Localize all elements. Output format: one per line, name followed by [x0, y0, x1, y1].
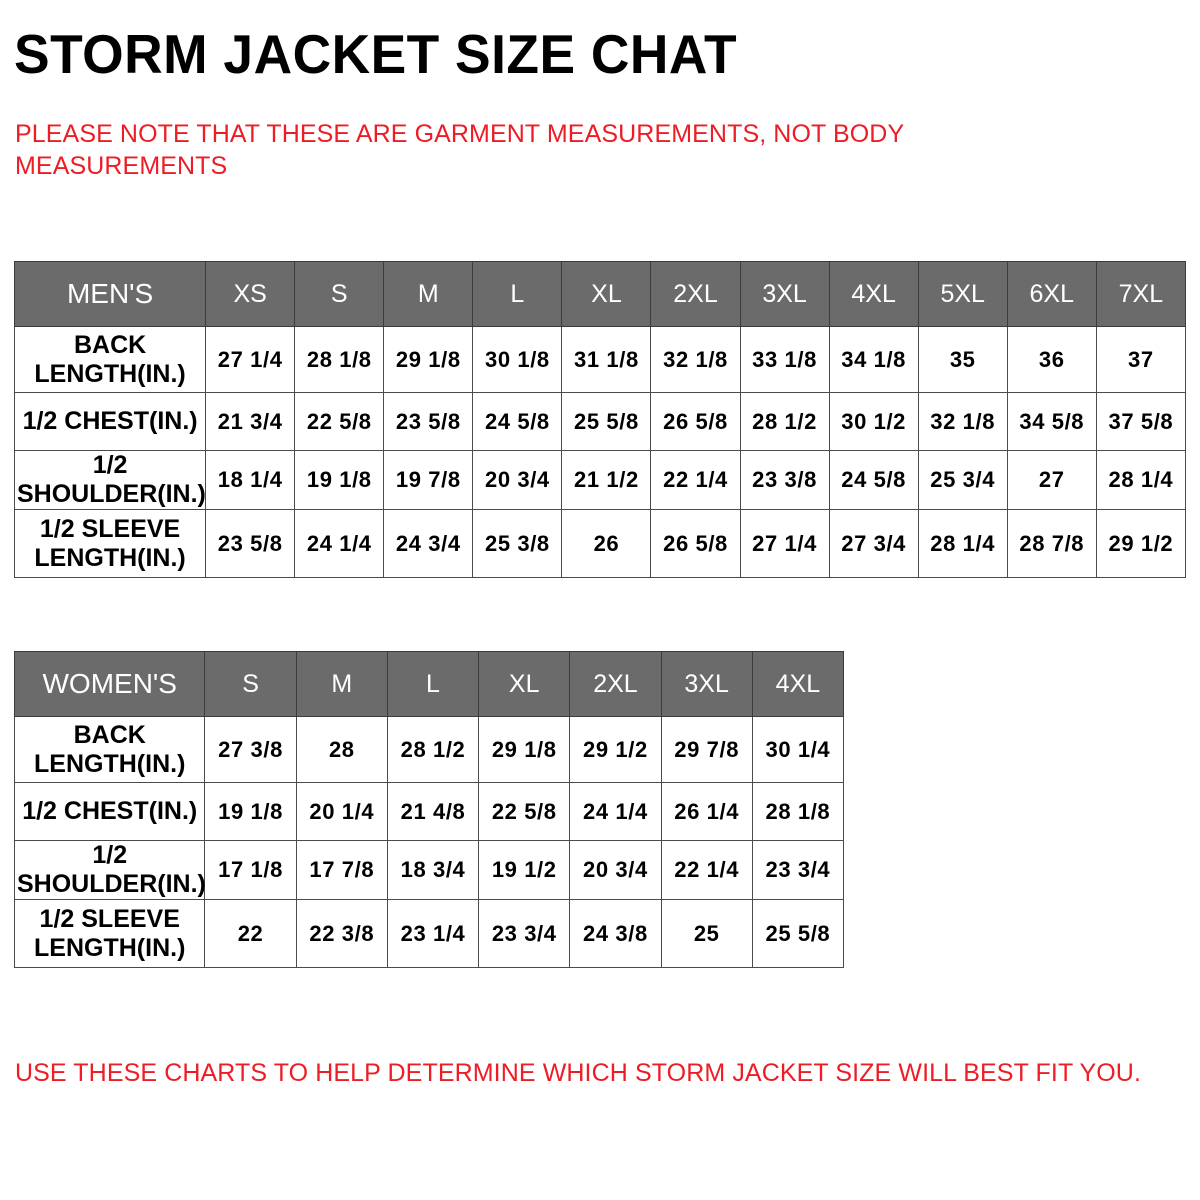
label-line-1: 1/2 SLEEVE [40, 515, 180, 543]
cell-value: 28 1/4 [1096, 451, 1185, 510]
cell-value: 24 3/4 [384, 510, 473, 578]
label-line-2: LENGTH(IN.) [34, 934, 185, 962]
cell-value: 23 5/8 [384, 393, 473, 451]
cell-value: 27 [1007, 451, 1096, 510]
cell-value: 27 1/4 [206, 327, 295, 393]
cell-value: 18 1/4 [206, 451, 295, 510]
label-line-2: LENGTH(IN.) [34, 544, 185, 572]
cell-value: 26 1/4 [661, 783, 752, 841]
cell-value: 30 1/4 [752, 717, 843, 783]
table-row: BACK LENGTH(IN.) 27 1/4 28 1/8 29 1/8 30… [15, 327, 1186, 393]
table-row: BACK LENGTH(IN.) 27 3/8 28 28 1/2 29 1/8… [15, 717, 844, 783]
cell-value: 28 1/2 [740, 393, 829, 451]
cell-value: 28 1/8 [752, 783, 843, 841]
cell-value: 27 1/4 [740, 510, 829, 578]
cell-value: 34 1/8 [829, 327, 918, 393]
cell-value: 22 [205, 900, 296, 968]
mens-size-xl: XL [562, 262, 651, 327]
cell-value: 29 7/8 [661, 717, 752, 783]
womens-size-3xl: 3XL [661, 652, 752, 717]
cell-value: 32 1/8 [918, 393, 1007, 451]
mens-header-row: MEN'S XS S M L XL 2XL 3XL 4XL 5XL 6XL 7X… [15, 262, 1186, 327]
cell-value: 34 5/8 [1007, 393, 1096, 451]
table-row: 1/2 SLEEVE LENGTH(IN.) 22 22 3/8 23 1/4 … [15, 900, 844, 968]
womens-row-label-half-sleeve-length: 1/2 SLEEVE LENGTH(IN.) [15, 900, 205, 968]
mens-table-header: MEN'S XS S M L XL 2XL 3XL 4XL 5XL 6XL 7X… [15, 262, 1186, 327]
cell-value: 19 7/8 [384, 451, 473, 510]
table-row: 1/2 SHOULDER(IN.) 17 1/8 17 7/8 18 3/4 1… [15, 841, 844, 900]
mens-size-4xl: 4XL [829, 262, 918, 327]
cell-value: 29 1/8 [384, 327, 473, 393]
mens-corner-label: MEN'S [15, 262, 206, 327]
cell-value: 29 1/8 [479, 717, 570, 783]
cell-value: 33 1/8 [740, 327, 829, 393]
mens-row-label-half-sleeve-length: 1/2 SLEEVE LENGTH(IN.) [15, 510, 206, 578]
cell-value: 28 [296, 717, 387, 783]
cell-value: 22 5/8 [479, 783, 570, 841]
womens-table-header: WOMEN'S S M L XL 2XL 3XL 4XL [15, 652, 844, 717]
mens-size-7xl: 7XL [1096, 262, 1185, 327]
cell-value: 24 1/4 [295, 510, 384, 578]
cell-value: 36 [1007, 327, 1096, 393]
label-line-2: LENGTH(IN.) [34, 750, 185, 778]
cell-value: 20 1/4 [296, 783, 387, 841]
cell-value: 19 1/8 [205, 783, 296, 841]
cell-value: 25 3/4 [918, 451, 1007, 510]
cell-value: 21 1/2 [562, 451, 651, 510]
table-row: 1/2 SLEEVE LENGTH(IN.) 23 5/8 24 1/4 24 … [15, 510, 1186, 578]
womens-size-l: L [387, 652, 478, 717]
cell-value: 23 3/8 [740, 451, 829, 510]
cell-value: 26 5/8 [651, 393, 740, 451]
mens-row-label-half-shoulder: 1/2 SHOULDER(IN.) [15, 451, 206, 510]
cell-value: 17 7/8 [296, 841, 387, 900]
cell-value: 24 5/8 [473, 393, 562, 451]
garment-measurement-note: PLEASE NOTE THAT THESE ARE GARMENT MEASU… [15, 118, 995, 182]
cell-value: 23 3/4 [752, 841, 843, 900]
cell-value: 26 [562, 510, 651, 578]
cell-value: 19 1/8 [295, 451, 384, 510]
mens-size-3xl: 3XL [740, 262, 829, 327]
mens-size-6xl: 6XL [1007, 262, 1096, 327]
cell-value: 20 3/4 [473, 451, 562, 510]
cell-value: 28 1/8 [295, 327, 384, 393]
cell-value: 24 3/8 [570, 900, 661, 968]
cell-value: 29 1/2 [570, 717, 661, 783]
mens-size-m: M [384, 262, 473, 327]
mens-row-label-back-length: BACK LENGTH(IN.) [15, 327, 206, 393]
cell-value: 21 3/4 [206, 393, 295, 451]
page-title: STORM JACKET SIZE CHAT [14, 24, 737, 84]
womens-row-label-back-length: BACK LENGTH(IN.) [15, 717, 205, 783]
cell-value: 22 5/8 [295, 393, 384, 451]
footer-help-note: USE THESE CHARTS TO HELP DETERMINE WHICH… [15, 1058, 1175, 1088]
cell-value: 22 3/8 [296, 900, 387, 968]
mens-table-body: BACK LENGTH(IN.) 27 1/4 28 1/8 29 1/8 30… [15, 327, 1186, 578]
cell-value: 28 1/4 [918, 510, 1007, 578]
womens-size-2xl: 2XL [570, 652, 661, 717]
label-line-1: BACK [74, 331, 146, 359]
cell-value: 28 7/8 [1007, 510, 1096, 578]
cell-value: 23 5/8 [206, 510, 295, 578]
label-line-2: LENGTH(IN.) [34, 360, 185, 388]
womens-table-body: BACK LENGTH(IN.) 27 3/8 28 28 1/2 29 1/8… [15, 717, 844, 968]
table-row: 1/2 SHOULDER(IN.) 18 1/4 19 1/8 19 7/8 2… [15, 451, 1186, 510]
womens-row-label-half-chest: 1/2 CHEST(IN.) [15, 783, 205, 841]
cell-value: 25 5/8 [752, 900, 843, 968]
cell-value: 28 1/2 [387, 717, 478, 783]
mens-size-2xl: 2XL [651, 262, 740, 327]
womens-size-s: S [205, 652, 296, 717]
table-row: 1/2 CHEST(IN.) 21 3/4 22 5/8 23 5/8 24 5… [15, 393, 1186, 451]
cell-value: 21 4/8 [387, 783, 478, 841]
mens-size-s: S [295, 262, 384, 327]
cell-value: 30 1/8 [473, 327, 562, 393]
womens-row-label-half-shoulder: 1/2 SHOULDER(IN.) [15, 841, 205, 900]
cell-value: 27 3/8 [205, 717, 296, 783]
cell-value: 24 5/8 [829, 451, 918, 510]
womens-corner-label: WOMEN'S [15, 652, 205, 717]
cell-value: 37 5/8 [1096, 393, 1185, 451]
cell-value: 31 1/8 [562, 327, 651, 393]
womens-size-xl: XL [479, 652, 570, 717]
cell-value: 35 [918, 327, 1007, 393]
cell-value: 22 1/4 [651, 451, 740, 510]
mens-row-label-half-chest: 1/2 CHEST(IN.) [15, 393, 206, 451]
cell-value: 25 [661, 900, 752, 968]
table-row: 1/2 CHEST(IN.) 19 1/8 20 1/4 21 4/8 22 5… [15, 783, 844, 841]
cell-value: 29 1/2 [1096, 510, 1185, 578]
cell-value: 19 1/2 [479, 841, 570, 900]
mens-size-xs: XS [206, 262, 295, 327]
mens-size-l: L [473, 262, 562, 327]
cell-value: 20 3/4 [570, 841, 661, 900]
cell-value: 25 3/8 [473, 510, 562, 578]
womens-size-4xl: 4XL [752, 652, 843, 717]
cell-value: 23 1/4 [387, 900, 478, 968]
cell-value: 23 3/4 [479, 900, 570, 968]
cell-value: 22 1/4 [661, 841, 752, 900]
mens-size-5xl: 5XL [918, 262, 1007, 327]
cell-value: 37 [1096, 327, 1185, 393]
mens-size-table: MEN'S XS S M L XL 2XL 3XL 4XL 5XL 6XL 7X… [14, 261, 1186, 578]
size-chart-page: STORM JACKET SIZE CHAT PLEASE NOTE THAT … [0, 0, 1200, 1200]
cell-value: 30 1/2 [829, 393, 918, 451]
label-line-1: 1/2 SLEEVE [40, 905, 180, 933]
cell-value: 25 5/8 [562, 393, 651, 451]
cell-value: 26 5/8 [651, 510, 740, 578]
cell-value: 32 1/8 [651, 327, 740, 393]
label-line-1: BACK [74, 721, 146, 749]
womens-header-row: WOMEN'S S M L XL 2XL 3XL 4XL [15, 652, 844, 717]
cell-value: 24 1/4 [570, 783, 661, 841]
cell-value: 27 3/4 [829, 510, 918, 578]
womens-size-m: M [296, 652, 387, 717]
womens-size-table: WOMEN'S S M L XL 2XL 3XL 4XL BACK LENGTH… [14, 651, 844, 968]
cell-value: 18 3/4 [387, 841, 478, 900]
cell-value: 17 1/8 [205, 841, 296, 900]
